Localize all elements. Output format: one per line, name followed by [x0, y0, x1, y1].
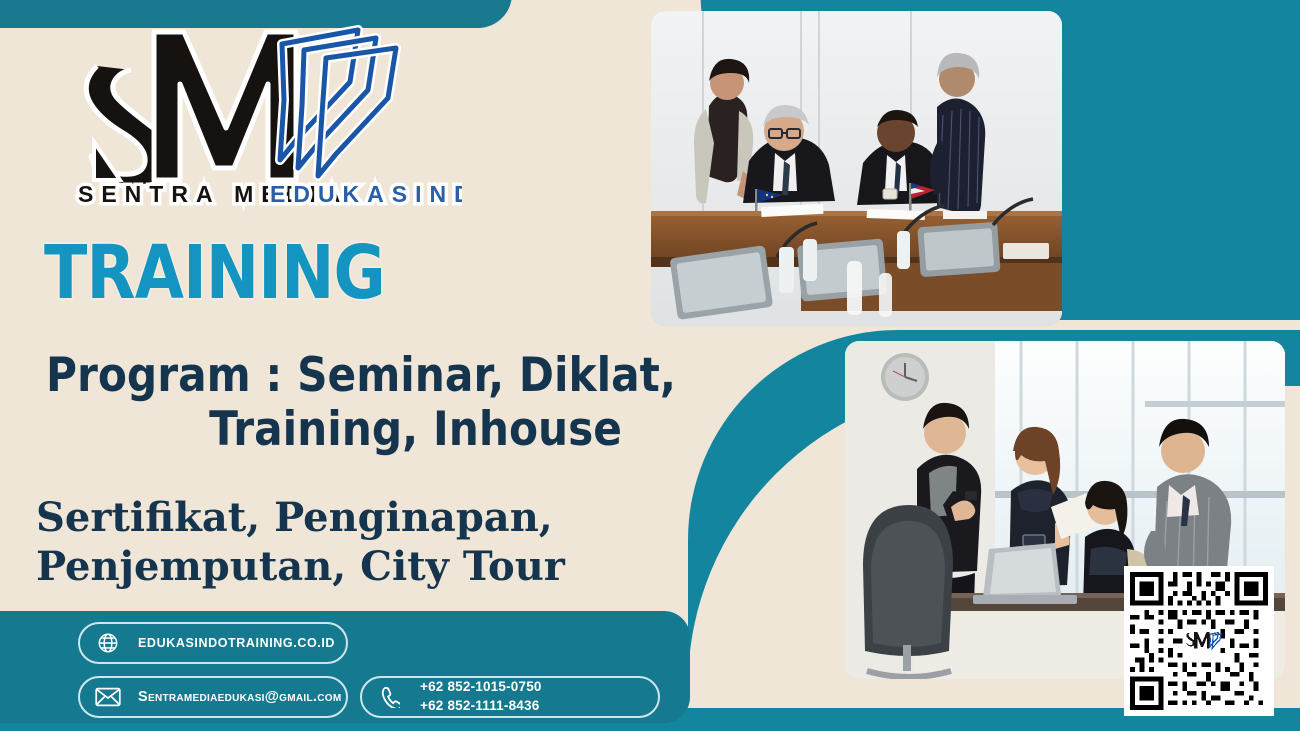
envelope-icon	[90, 687, 126, 707]
services-line-2: Penjemputan, City Tour	[36, 543, 696, 592]
wordmark-edukasindo: EDUKASINDO	[270, 181, 462, 207]
email-pill[interactable]: Sentramediaedukasi@gmail.com	[78, 676, 348, 718]
program-label: Program :	[46, 348, 282, 403]
company-logo: SENTRA MEDIA SENTRA MEDIA EDUKASINDO EDU…	[42, 14, 462, 214]
phone-number-1: +62 852-1015-0750	[420, 679, 542, 694]
phone-icon	[372, 686, 408, 708]
program-block: Program : Seminar, Diklat, Training, Inh…	[46, 352, 622, 454]
program-services-2: Training, Inhouse	[46, 406, 622, 454]
training-promo-banner: SENTRA MEDIA SENTRA MEDIA EDUKASINDO EDU…	[0, 0, 1300, 731]
website-text: EDUKASINDOTRAINING.CO.ID	[138, 636, 335, 650]
globe-icon	[90, 632, 126, 654]
phone-number-2: +62 852-1111-8436	[420, 698, 539, 713]
services-line-1: Sertifikat, Penginapan,	[36, 494, 696, 543]
qr-code[interactable]	[1124, 566, 1274, 716]
phone-text: +62 852-1015-0750 +62 852-1111-8436	[420, 678, 542, 715]
email-text: Sentramediaedukasi@gmail.com	[138, 689, 341, 705]
boardroom-meeting-photo	[651, 11, 1062, 326]
website-pill[interactable]: EDUKASINDOTRAINING.CO.ID	[78, 622, 348, 664]
phone-pill[interactable]: +62 852-1015-0750 +62 852-1111-8436	[360, 676, 660, 718]
services-block: Sertifikat, Penginapan, Penjemputan, Cit…	[36, 494, 696, 592]
page-title: TRAINING	[44, 238, 385, 309]
sm-monogram	[86, 32, 296, 187]
program-line-1: Program : Seminar, Diklat,	[46, 352, 622, 400]
program-services-1: Seminar, Diklat,	[297, 348, 676, 403]
logo-wordmark: SENTRA MEDIA SENTRA MEDIA EDUKASINDO EDU…	[78, 181, 462, 207]
